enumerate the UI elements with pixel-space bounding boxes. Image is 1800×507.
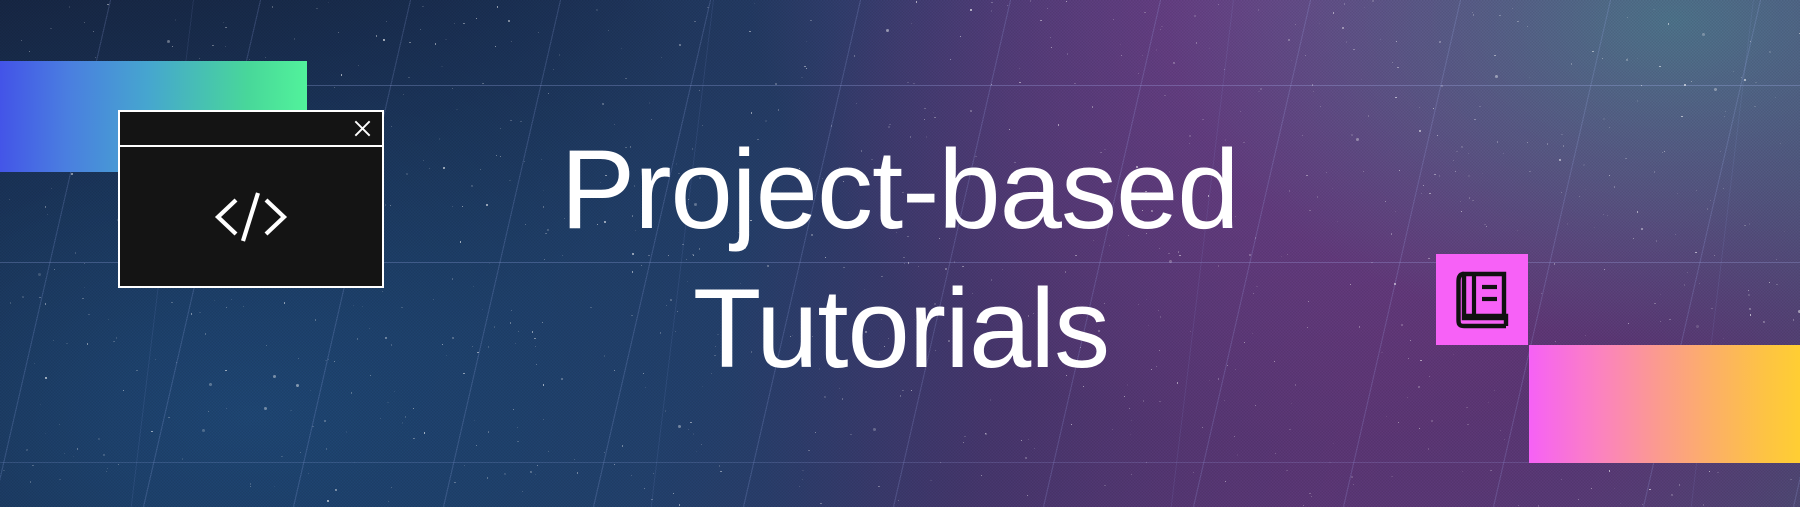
code-window-body [120, 147, 382, 286]
magenta-square-block [1436, 254, 1528, 345]
sunset-gradient-block [1529, 345, 1800, 463]
code-brackets-icon [212, 186, 290, 248]
code-window-titlebar [120, 112, 382, 147]
code-window [118, 110, 384, 288]
tutorials-hero-banner: Project-based Tutorials [0, 0, 1800, 507]
book-icon [1454, 270, 1510, 330]
close-icon[interactable] [354, 120, 371, 137]
